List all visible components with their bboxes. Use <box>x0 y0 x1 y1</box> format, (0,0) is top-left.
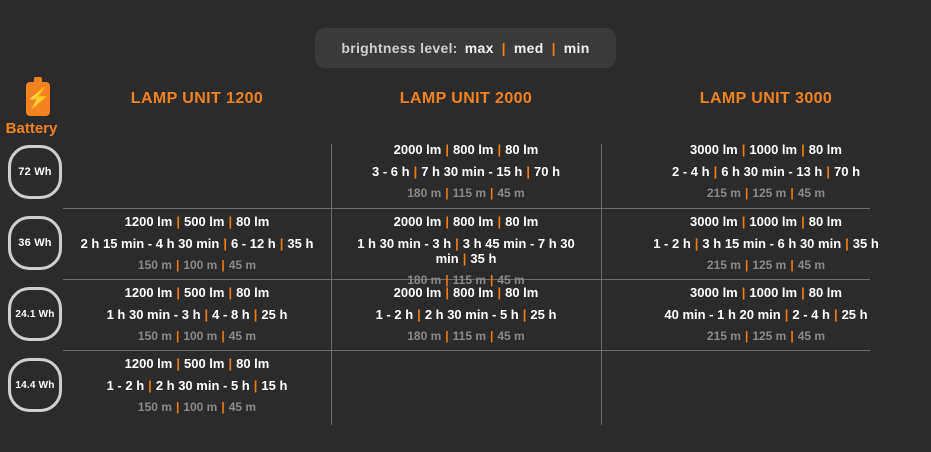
lumens-max: 2000 lm <box>394 214 442 229</box>
beam-med: 115 m <box>453 329 486 343</box>
battery-badge-label: 14.4 Wh <box>15 380 54 391</box>
beam-max: 150 m <box>138 258 172 272</box>
runtime-med: 7 h 30 min - 15 h <box>421 164 522 179</box>
runtime-max: 1 - 2 h <box>653 236 691 251</box>
runtime-min: 25 h <box>530 307 556 322</box>
lightning-bolt-icon: ⚡ <box>26 89 51 109</box>
value-separator: | <box>797 285 809 300</box>
lumens-max: 1200 lm <box>125 285 173 300</box>
battery-badge-label: 36 Wh <box>18 237 51 249</box>
value-separator: | <box>441 285 453 300</box>
beam-min: 45 m <box>229 400 256 414</box>
lumens-med: 500 lm <box>184 214 224 229</box>
value-separator: | <box>413 307 425 322</box>
value-separator: | <box>830 307 842 322</box>
lumens-max: 2000 lm <box>394 285 442 300</box>
value-separator: | <box>519 307 531 322</box>
value-separator: | <box>172 400 183 414</box>
lumens-max: 3000 lm <box>690 214 738 229</box>
value-separator: | <box>822 164 834 179</box>
lumens-min: 80 lm <box>236 356 269 371</box>
lumens-med: 800 lm <box>453 214 493 229</box>
beam-min: 45 m <box>798 258 825 272</box>
runtime-min: 70 h <box>534 164 560 179</box>
cell-36wh-2000: 2000 lm|800 lm|80 lm 1 h 30 min - 3 h|3 … <box>331 214 601 287</box>
runtime-max: 3 - 6 h <box>372 164 410 179</box>
beam-min: 45 m <box>229 258 256 272</box>
value-separator: | <box>172 258 183 272</box>
runtime-max: 1 h 30 min - 3 h <box>107 307 201 322</box>
legend-level-min: min <box>564 40 590 56</box>
value-separator: | <box>459 251 471 266</box>
value-separator: | <box>786 329 797 343</box>
value-separator: | <box>172 329 183 343</box>
runtime-med: 2 - 4 h <box>792 307 830 322</box>
runtime-med: 6 - 12 h <box>231 236 276 251</box>
battery-badge-36wh: 36 Wh <box>8 216 62 270</box>
cell-24wh-3000: 3000 lm|1000 lm|80 lm 40 min - 1 h 20 mi… <box>601 285 931 343</box>
value-separator: | <box>441 214 453 229</box>
runtime-min: 35 h <box>853 236 879 251</box>
runtime-max: 2 - 4 h <box>672 164 710 179</box>
lumens-med: 800 lm <box>453 142 493 157</box>
beam-min: 45 m <box>798 186 825 200</box>
beam-max: 150 m <box>138 329 172 343</box>
value-separator: | <box>738 285 750 300</box>
value-separator: | <box>741 186 752 200</box>
value-separator: | <box>441 186 452 200</box>
value-separator: | <box>144 378 156 393</box>
battery-badge-24wh: 24.1 Wh <box>8 287 62 341</box>
runtime-min: 25 h <box>842 307 868 322</box>
lumens-max: 1200 lm <box>125 214 173 229</box>
value-separator: | <box>741 258 752 272</box>
column-header-lamp-3000: LAMP UNIT 3000 <box>601 90 931 108</box>
lumens-min: 80 lm <box>505 285 538 300</box>
runtime-med: 4 - 8 h <box>212 307 250 322</box>
beam-max: 180 m <box>407 186 441 200</box>
beam-max: 215 m <box>707 258 741 272</box>
cell-24wh-2000: 2000 lm|800 lm|80 lm 1 - 2 h|2 h 30 min … <box>331 285 601 343</box>
value-separator: | <box>201 307 213 322</box>
value-separator: | <box>710 164 722 179</box>
lumens-min: 80 lm <box>809 214 842 229</box>
beam-med: 125 m <box>752 329 786 343</box>
battery-icon: ⚡ <box>26 82 50 116</box>
battery-badge-14wh: 14.4 Wh <box>8 358 62 412</box>
value-separator: | <box>522 164 534 179</box>
runtime-med: 3 h 15 min - 6 h 30 min <box>702 236 841 251</box>
beam-max: 215 m <box>707 329 741 343</box>
legend-bar: brightness level: max | med | min <box>0 28 931 68</box>
lumens-min: 80 lm <box>809 285 842 300</box>
value-separator: | <box>493 214 505 229</box>
battery-column: ⚡ Battery 72 Wh 36 Wh 24.1 Wh 14.4 Wh <box>0 78 63 438</box>
lumens-min: 80 lm <box>236 285 269 300</box>
runtime-min: 70 h <box>834 164 860 179</box>
beam-min: 45 m <box>497 329 524 343</box>
value-separator: | <box>441 329 452 343</box>
value-separator: | <box>172 356 184 371</box>
value-separator: | <box>224 285 236 300</box>
beam-med: 100 m <box>183 329 217 343</box>
runtime-min: 35 h <box>287 236 313 251</box>
runtime-med: 2 h 30 min - 5 h <box>156 378 250 393</box>
value-separator: | <box>219 236 231 251</box>
value-separator: | <box>441 142 453 157</box>
beam-med: 115 m <box>453 186 486 200</box>
beam-med: 125 m <box>752 258 786 272</box>
value-separator: | <box>786 186 797 200</box>
lumens-med: 500 lm <box>184 285 224 300</box>
value-separator: | <box>217 400 228 414</box>
lumens-min: 80 lm <box>809 142 842 157</box>
lumens-med: 1000 lm <box>749 214 797 229</box>
value-separator: | <box>250 307 262 322</box>
value-separator: | <box>781 307 793 322</box>
spec-table: ⚡ Battery 72 Wh 36 Wh 24.1 Wh 14.4 Wh LA… <box>0 78 931 438</box>
cell-36wh-1200: 1200 lm|500 lm|80 lm 2 h 15 min - 4 h 30… <box>63 214 331 272</box>
brightness-legend-pill: brightness level: max | med | min <box>315 28 615 68</box>
value-separator: | <box>172 285 184 300</box>
beam-min: 45 m <box>229 329 256 343</box>
value-separator: | <box>486 186 497 200</box>
value-separator: | <box>841 236 853 251</box>
beam-min: 45 m <box>497 186 524 200</box>
legend-separator: | <box>502 40 506 56</box>
value-separator: | <box>738 142 750 157</box>
value-separator: | <box>493 285 505 300</box>
beam-med: 125 m <box>752 186 786 200</box>
value-separator: | <box>224 214 236 229</box>
column-headers: LAMP UNIT 1200 LAMP UNIT 2000 LAMP UNIT … <box>63 78 931 122</box>
value-separator: | <box>797 214 809 229</box>
value-separator: | <box>224 356 236 371</box>
beam-max: 150 m <box>138 400 172 414</box>
value-separator: | <box>493 142 505 157</box>
value-separator: | <box>410 164 422 179</box>
lumens-max: 3000 lm <box>690 285 738 300</box>
cell-36wh-3000: 3000 lm|1000 lm|80 lm 1 - 2 h|3 h 15 min… <box>601 214 931 272</box>
battery-badge-label: 72 Wh <box>18 166 51 178</box>
battery-badge-72wh: 72 Wh <box>8 145 62 199</box>
lumens-max: 3000 lm <box>690 142 738 157</box>
runtime-max: 40 min - 1 h 20 min <box>664 307 780 322</box>
battery-badge-label: 24.1 Wh <box>15 309 54 320</box>
cell-72wh-3000: 3000 lm|1000 lm|80 lm 2 - 4 h|6 h 30 min… <box>601 142 931 200</box>
lumens-med: 800 lm <box>453 285 493 300</box>
beam-max: 180 m <box>407 329 441 343</box>
beam-med: 100 m <box>183 258 217 272</box>
value-separator: | <box>276 236 288 251</box>
cell-72wh-2000: 2000 lm|800 lm|80 lm 3 - 6 h|7 h 30 min … <box>331 142 601 200</box>
value-separator: | <box>250 378 262 393</box>
value-separator: | <box>797 142 809 157</box>
runtime-med: 2 h 30 min - 5 h <box>425 307 519 322</box>
lumens-max: 1200 lm <box>125 356 173 371</box>
lumens-max: 2000 lm <box>394 142 442 157</box>
legend-label: brightness level: <box>341 40 457 56</box>
row-divider <box>63 350 870 351</box>
beam-med: 100 m <box>183 400 217 414</box>
value-separator: | <box>217 258 228 272</box>
value-separator: | <box>451 236 463 251</box>
beam-max: 215 m <box>707 186 741 200</box>
value-separator: | <box>486 329 497 343</box>
lumens-min: 80 lm <box>505 142 538 157</box>
runtime-min: 15 h <box>261 378 287 393</box>
cell-14wh-1200: 1200 lm|500 lm|80 lm 1 - 2 h|2 h 30 min … <box>63 356 331 414</box>
lumens-med: 1000 lm <box>749 142 797 157</box>
column-header-lamp-2000: LAMP UNIT 2000 <box>331 90 601 108</box>
runtime-max: 1 - 2 h <box>107 378 145 393</box>
lumens-med: 500 lm <box>184 356 224 371</box>
value-separator: | <box>217 329 228 343</box>
battery-column-title: Battery <box>0 120 63 137</box>
lumens-min: 80 lm <box>505 214 538 229</box>
value-separator: | <box>172 214 184 229</box>
value-separator: | <box>738 214 750 229</box>
runtime-max: 1 - 2 h <box>376 307 414 322</box>
runtime-min: 35 h <box>470 251 496 266</box>
beam-min: 45 m <box>798 329 825 343</box>
lumens-med: 1000 lm <box>749 285 797 300</box>
legend-level-max: max <box>465 40 494 56</box>
legend-separator: | <box>552 40 556 56</box>
value-separator: | <box>741 329 752 343</box>
column-header-lamp-1200: LAMP UNIT 1200 <box>63 90 331 108</box>
legend-level-med: med <box>514 40 544 56</box>
row-divider <box>63 208 870 209</box>
lumens-min: 80 lm <box>236 214 269 229</box>
runtime-max: 1 h 30 min - 3 h <box>357 236 451 251</box>
value-separator: | <box>691 236 703 251</box>
runtime-min: 25 h <box>261 307 287 322</box>
cell-24wh-1200: 1200 lm|500 lm|80 lm 1 h 30 min - 3 h|4 … <box>63 285 331 343</box>
runtime-max: 2 h 15 min - 4 h 30 min <box>81 236 220 251</box>
runtime-med: 6 h 30 min - 13 h <box>721 164 822 179</box>
value-separator: | <box>786 258 797 272</box>
